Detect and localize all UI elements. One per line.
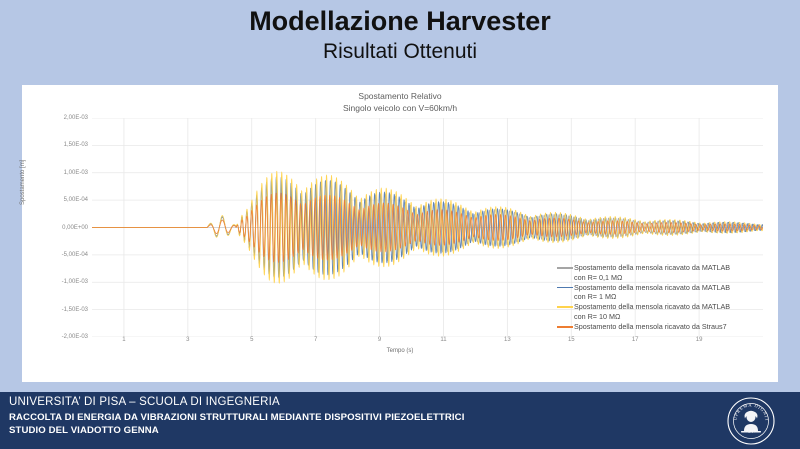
x-tick-label: 9 xyxy=(378,337,381,343)
x-tick-label: 17 xyxy=(632,337,639,343)
y-tick-label: 1,00E-03 xyxy=(64,170,88,176)
page-title: Modellazione Harvester xyxy=(0,4,800,38)
footer-project-title: RACCOLTA DI ENERGIA DA VIBRAZIONI STRUTT… xyxy=(9,412,464,423)
y-tick-label: 0,00E+00 xyxy=(62,225,88,231)
legend-item[interactable]: Spostamento della mensola ricavato da St… xyxy=(557,322,772,332)
y-tick-label: -1,00E-03 xyxy=(62,279,88,285)
legend-color-swatch-icon xyxy=(557,302,573,312)
legend-item-label: Spostamento della mensola ricavato da MA… xyxy=(574,302,772,321)
legend-color-swatch-icon xyxy=(557,283,573,293)
legend-item-label: Spostamento della mensola ricavato da St… xyxy=(574,322,772,332)
y-tick-label: -5,00E-04 xyxy=(62,252,88,258)
x-tick-label: 5 xyxy=(250,337,253,343)
legend-item-label: Spostamento della mensola ricavato da MA… xyxy=(574,283,772,302)
footer-project-subtitle: STUDIO DEL VIADOTTO GENNA xyxy=(9,425,159,436)
y-tick-label: -2,00E-03 xyxy=(62,334,88,340)
legend-item[interactable]: Spostamento della mensola ricavato da MA… xyxy=(557,263,772,282)
x-tick-label: 7 xyxy=(314,337,317,343)
y-tick-label: 2,00E-03 xyxy=(64,115,88,121)
chart-title: Spostamento Relativo xyxy=(22,90,778,102)
y-tick-label: -1,50E-03 xyxy=(62,307,88,313)
y-tick-label: 5,00E-04 xyxy=(64,197,88,203)
chart-panel: Spostamento Relativo Singolo veicolo con… xyxy=(22,85,778,382)
chart-legend: Spostamento della mensola ricavato da MA… xyxy=(557,263,772,332)
legend-color-swatch-icon xyxy=(557,322,573,332)
legend-color-swatch-icon xyxy=(557,263,573,273)
page-subtitle: Risultati Ottenuti xyxy=(0,38,800,66)
x-tick-label: 13 xyxy=(504,337,511,343)
legend-item-label: Spostamento della mensola ricavato da MA… xyxy=(574,263,772,282)
y-tick-label: 1,50E-03 xyxy=(64,142,88,148)
legend-item[interactable]: Spostamento della mensola ricavato da MA… xyxy=(557,283,772,302)
x-tick-label: 1 xyxy=(122,337,125,343)
x-tick-label: 19 xyxy=(696,337,703,343)
chart-subtitle: Singolo veicolo con V=60km/h xyxy=(22,102,778,114)
x-axis-title: Tempo (s) xyxy=(22,348,778,354)
legend-item[interactable]: Spostamento della mensola ricavato da MA… xyxy=(557,302,772,321)
footer-university: UNIVERSITA’ DI PISA – SCUOLA DI INGEGNER… xyxy=(9,396,280,408)
x-tick-label: 15 xyxy=(568,337,575,343)
y-axis-ticks: 2,00E-031,50E-031,00E-035,00E-040,00E+00… xyxy=(22,118,88,337)
x-tick-label: 3 xyxy=(186,337,189,343)
x-tick-label: 11 xyxy=(440,337,446,343)
unipi-seal-icon: IN SUPREMA DIGNITATE 1343 xyxy=(726,396,776,446)
slide-header: Modellazione Harvester Risultati Ottenut… xyxy=(0,4,800,66)
slide-footer: UNIVERSITA’ DI PISA – SCUOLA DI INGEGNER… xyxy=(0,392,800,449)
